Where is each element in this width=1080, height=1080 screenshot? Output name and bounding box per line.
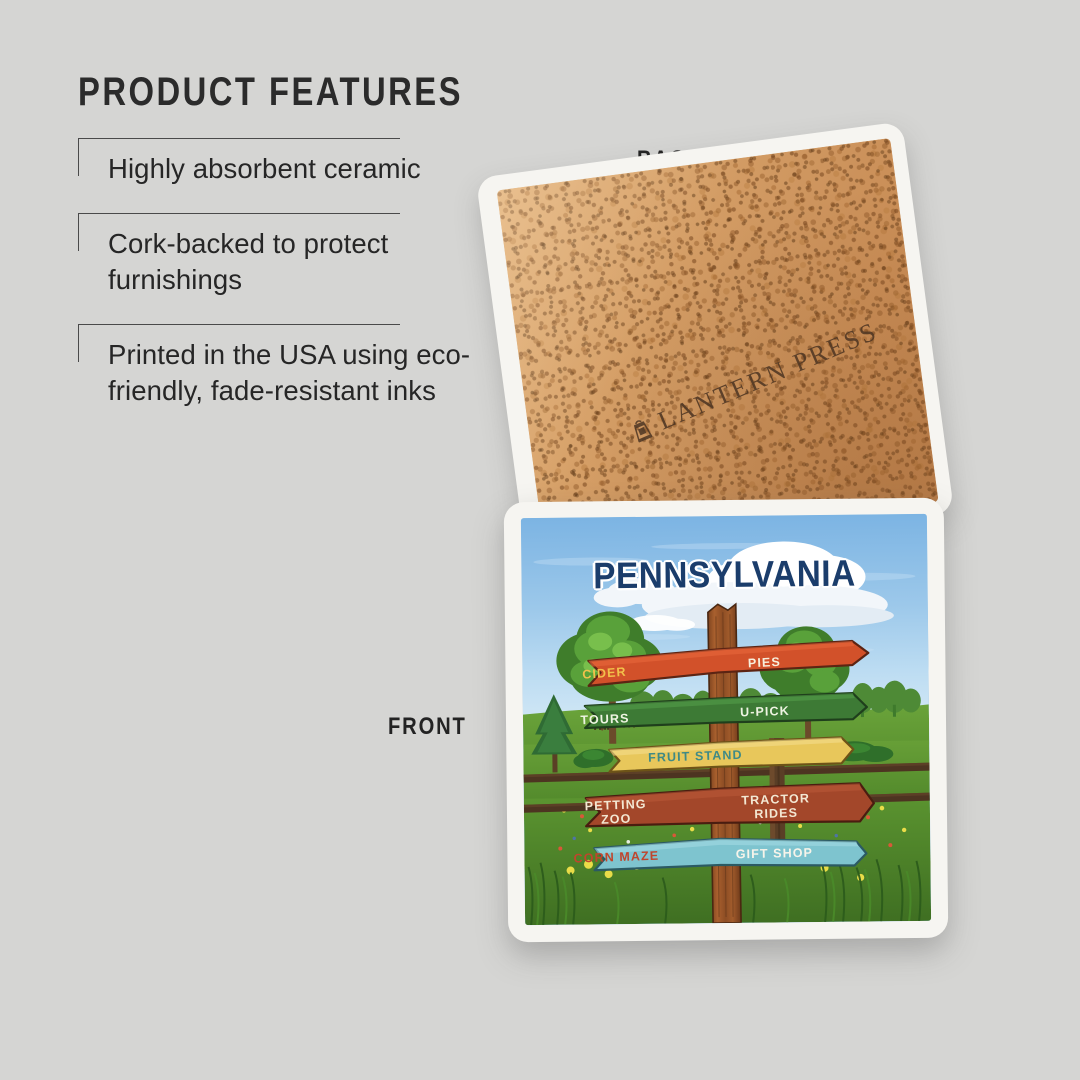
sign-tours-upick [585, 693, 867, 728]
feature-item: Highly absorbent ceramic [78, 138, 478, 187]
lantern-press-brand-stamp: LANTERN PRESS [626, 316, 882, 448]
signpost [521, 514, 931, 925]
feature-tick [78, 213, 79, 251]
feature-item: Cork-backed to protect furnishings [78, 213, 478, 298]
coaster-artwork: PENNSYLVANIA CIDER PIES TOURS U-PICK FRU… [521, 514, 931, 925]
sign-corn-gift [594, 837, 866, 870]
feature-tick [78, 138, 79, 176]
feature-item: Printed in the USA using eco-friendly, f… [78, 324, 478, 409]
coaster-front: PENNSYLVANIA CIDER PIES TOURS U-PICK FRU… [504, 498, 949, 943]
sign-fruit-stand [609, 737, 853, 772]
feature-tick [78, 324, 79, 362]
sign-petting-tractor [586, 783, 874, 826]
brand-name: LANTERN PRESS [654, 316, 883, 436]
cork-surface: LANTERN PRESS [497, 138, 939, 554]
lantern-icon [627, 414, 657, 446]
feature-divider [78, 213, 400, 214]
feature-text: Printed in the USA using eco-friendly, f… [108, 324, 478, 409]
feature-text: Cork-backed to protect furnishings [108, 213, 478, 298]
label-front: FRONT [388, 713, 467, 741]
feature-divider [78, 324, 400, 325]
product-image-stage: PRODUCT FEATURES Highly absorbent cerami… [0, 0, 1080, 1080]
product-features-panel: PRODUCT FEATURES Highly absorbent cerami… [78, 72, 478, 409]
feature-text: Highly absorbent ceramic [108, 138, 478, 187]
page-title: PRODUCT FEATURES [78, 72, 406, 112]
feature-divider [78, 138, 400, 139]
